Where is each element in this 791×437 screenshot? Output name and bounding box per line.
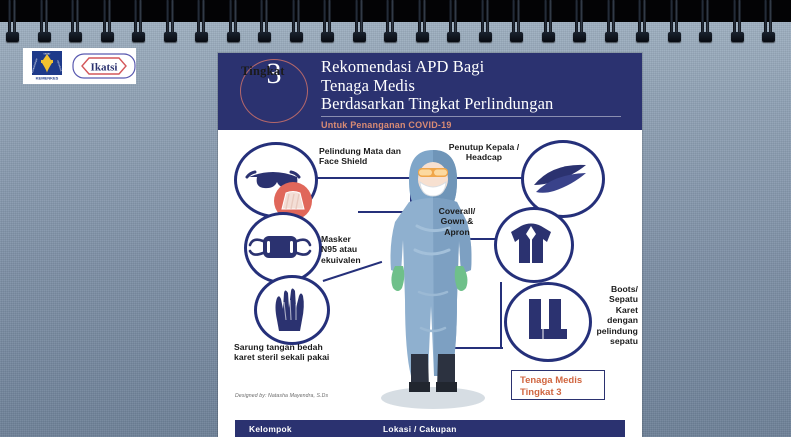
slide-title-line-1: Rekomendasi APD Bagi: [321, 58, 631, 77]
spiral-ring: [101, 0, 114, 44]
label-eye-protection: Pelindung Mata dan Face Shield: [319, 146, 429, 167]
label-mask-line-2: N95 atau: [321, 244, 357, 254]
spiral-ring: [321, 0, 334, 44]
spiral-ring: [479, 0, 492, 44]
spiral-ring: [353, 0, 366, 44]
label-headcap-line-2: Headcap: [466, 152, 502, 162]
spiral-ring: [227, 0, 240, 44]
label-eye-protection-line-1: Pelindung Mata dan: [319, 146, 401, 156]
spiral-ring: [542, 0, 555, 44]
label-coverall: Coverall/ Gown & Apron: [424, 206, 490, 237]
designer-credit: Designed by: Natasha Mayendra, S.Ds: [235, 393, 328, 399]
spiral-ring: [416, 0, 429, 44]
label-boots-line-3: Karet: [616, 305, 638, 315]
spiral-ring: [573, 0, 586, 44]
label-headcap-line-1: Penutup Kepala /: [449, 142, 520, 152]
medical-worker-ppe-illustration: [373, 142, 493, 410]
coverall-circle[interactable]: [494, 207, 574, 283]
slide-title-block: Rekomendasi APD Bagi Tenaga Medis Berdas…: [321, 58, 631, 130]
slide-subtitle: Untuk Penanganan COVID-19: [321, 120, 631, 130]
label-coverall-line-3: Apron: [444, 227, 470, 237]
spiral-ring: [510, 0, 523, 44]
logo-strip: SEHAT KEMENTERIAN INDONESIA KEMENKES Ika…: [23, 48, 136, 84]
table-column-kelompok: Kelompok: [249, 424, 292, 434]
label-coverall-line-1: Coverall/: [439, 206, 476, 216]
mask-circle[interactable]: [244, 212, 322, 284]
slide-header: Tingkat 3 Rekomendasi APD Bagi Tenaga Me…: [218, 53, 642, 130]
presentation-slide[interactable]: Tingkat 3 Rekomendasi APD Bagi Tenaga Me…: [218, 53, 642, 437]
boots-circle[interactable]: [504, 282, 592, 362]
label-gloves-line-2: karet steril sekali pakai: [234, 352, 329, 362]
spiral-ring: [636, 0, 649, 44]
spiral-ring: [195, 0, 208, 44]
callout-tenaga-medis[interactable]: Tenaga Medis Tingkat 3: [511, 370, 605, 400]
spiral-ring: [38, 0, 51, 44]
spiral-ring: [290, 0, 303, 44]
table-header-row: Kelompok Lokasi / Cakupan: [235, 420, 625, 437]
label-coverall-line-2: Gown &: [441, 216, 474, 226]
spiral-ring: [447, 0, 460, 44]
label-mask: Masker N95 atau ekuivalen: [321, 234, 401, 265]
spiral-ring: [605, 0, 618, 44]
label-eye-protection-line-2: Face Shield: [319, 156, 367, 166]
spiral-ring: [762, 0, 775, 44]
spiral-ring: [6, 0, 19, 44]
label-boots-line-6: sepatu: [610, 336, 638, 346]
callout-line-2: Tingkat 3: [520, 387, 604, 399]
slide-body: Pelindung Mata dan Face Shield Masker N9…: [218, 130, 642, 420]
spiral-ring: [132, 0, 145, 44]
label-gloves: Sarung tangan bedah karet steril sekali …: [234, 342, 374, 363]
connector-boots-v: [500, 282, 502, 349]
label-gloves-line-1: Sarung tangan bedah: [234, 342, 323, 352]
ikatsi-logo-icon: Ikatsi: [72, 52, 136, 80]
screenshot-root: SEHAT KEMENTERIAN INDONESIA KEMENKES Ika…: [0, 0, 791, 437]
label-boots-line-2: Sepatu: [609, 294, 638, 304]
svg-text:KEMENKES: KEMENKES: [36, 76, 59, 81]
table-column-lokasi: Lokasi / Cakupan: [383, 424, 457, 434]
svg-text:SEHAT: SEHAT: [43, 53, 51, 56]
slide-title-line-2: Tenaga Medis: [321, 77, 631, 96]
kementerian-kesehatan-emblem-icon: SEHAT KEMENTERIAN INDONESIA KEMENKES: [28, 51, 66, 81]
spiral-ring: [384, 0, 397, 44]
level-badge-label: Tingkat: [241, 66, 285, 76]
label-mask-line-1: Masker: [321, 234, 351, 244]
title-divider: [321, 116, 621, 117]
spiral-ring: [258, 0, 271, 44]
callout-line-1: Tenaga Medis: [520, 375, 604, 387]
gloves-circle[interactable]: [254, 275, 330, 345]
spiral-ring: [699, 0, 712, 44]
spiral-ring: [164, 0, 177, 44]
level-badge: Tingkat 3: [240, 59, 308, 123]
spiral-ring: [731, 0, 744, 44]
slide-title-line-3: Berdasarkan Tingkat Perlindungan: [321, 95, 631, 114]
label-mask-line-3: ekuivalen: [321, 255, 361, 265]
label-boots-line-5: pelindung: [596, 326, 638, 336]
label-boots: Boots/ Sepatu Karet dengan pelindung sep…: [588, 284, 638, 346]
label-boots-line-4: dengan: [607, 315, 638, 325]
spiral-binding: [0, 0, 791, 46]
svg-text:Ikatsi: Ikatsi: [91, 62, 118, 74]
spiral-ring: [69, 0, 82, 44]
label-headcap: Penutup Kepala / Headcap: [436, 142, 532, 163]
label-boots-line-1: Boots/: [611, 284, 638, 294]
spiral-ring: [668, 0, 681, 44]
